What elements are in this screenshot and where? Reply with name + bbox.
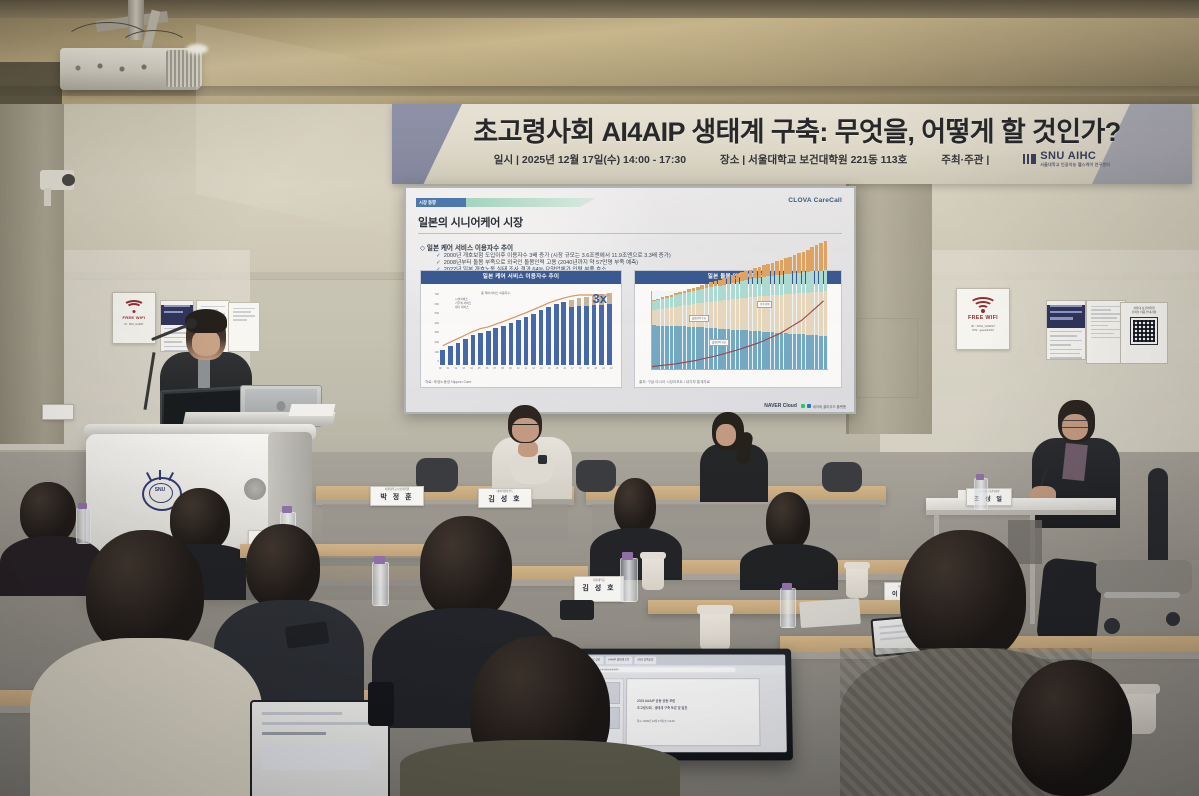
panelist-2-face bbox=[716, 424, 736, 446]
chart-stack-segment bbox=[793, 255, 797, 273]
chart-bar-cap bbox=[584, 297, 589, 306]
projection-screen: 시장 동향 CLOVA CareCall 일본의 시니어케어 시장 ◇ 일본 케… bbox=[404, 186, 856, 414]
chart-bar bbox=[493, 328, 498, 365]
bottle-cap bbox=[78, 503, 87, 509]
nameplate-2: 네이버클라우드 김 성 호 bbox=[478, 488, 532, 508]
chart-stack-segment bbox=[766, 264, 770, 277]
chart-bar bbox=[584, 306, 589, 365]
chart-callout: 부족 인력 bbox=[757, 301, 772, 308]
chart-bar bbox=[516, 320, 521, 365]
chart-bar bbox=[456, 343, 461, 365]
camera-lens-icon bbox=[62, 174, 75, 186]
slide-title-rule bbox=[418, 233, 842, 234]
chart-bar-cap bbox=[569, 300, 574, 307]
panelist-1-watch bbox=[538, 455, 547, 464]
cup-lid bbox=[697, 605, 733, 614]
glasses-icon bbox=[1060, 420, 1092, 428]
qr-code-icon bbox=[1131, 318, 1157, 344]
pillar-access-panel bbox=[856, 318, 918, 398]
ceiling-trim bbox=[0, 0, 1199, 18]
wifi-pw: PW : guest1234 bbox=[960, 328, 1006, 332]
chart-stack-segment bbox=[802, 252, 806, 273]
chart-stack-segment bbox=[705, 284, 709, 288]
chart-stack-segment bbox=[696, 287, 700, 291]
chart-bar bbox=[546, 307, 551, 365]
doc-line: 초고령사회 - 생태계 구축 토론 및 발표 bbox=[637, 706, 749, 711]
slide-surface: 시장 동향 CLOVA CareCall 일본의 시니어케어 시장 ◇ 일본 케… bbox=[406, 188, 854, 412]
chart-panel-users: 일본 케어 서비스 이용자수 추이 총 케어서비스 이용자수 700600500… bbox=[420, 270, 622, 388]
chart-bar bbox=[524, 317, 529, 365]
glasses-icon bbox=[512, 424, 538, 430]
chart-stack-segment bbox=[775, 261, 779, 275]
audience-head bbox=[20, 482, 76, 544]
chart-stack-segment bbox=[824, 241, 828, 270]
water-bottle[interactable] bbox=[974, 478, 988, 510]
speaker-tie bbox=[198, 358, 210, 388]
wifi-icon bbox=[124, 301, 144, 313]
water-bottle[interactable] bbox=[372, 562, 389, 606]
panelist-1-hand bbox=[518, 441, 538, 457]
chart-stack-segment bbox=[819, 243, 823, 270]
chart-stack-segment bbox=[709, 282, 713, 287]
cup-lid bbox=[640, 552, 666, 559]
chart-bar bbox=[478, 333, 483, 365]
chart-panel-workforce: 일본 돌봄 인력 부족 추이 돌봄인력 수요 돌봄인력 공급 부족 인력 출처:… bbox=[634, 270, 842, 388]
water-bottle[interactable] bbox=[620, 558, 638, 602]
chart-bar bbox=[486, 331, 491, 365]
chart-stack-segment bbox=[797, 253, 801, 273]
chart-stack-segment bbox=[815, 245, 819, 271]
wall-poster-right bbox=[1046, 300, 1086, 360]
conference-room-photo: 초고령사회 AI4AIP 생태계 구축: 무엇을, 어떻게 할 것인가? 일시 … bbox=[0, 0, 1199, 796]
chair-base bbox=[1104, 592, 1180, 598]
browser-tab[interactable]: 2025 정책포럼 bbox=[634, 656, 656, 664]
audience-head bbox=[900, 530, 1026, 664]
qr-line2: 강의실 이용 안내사항 bbox=[1124, 310, 1164, 314]
chart-stack-segment bbox=[740, 272, 744, 280]
bottle-cap bbox=[374, 556, 385, 564]
naver-cloud-logo: NAVER Cloud 네이버 클라우드 플랫폼 bbox=[764, 403, 846, 409]
chart-bar bbox=[554, 304, 559, 365]
chart-stack-segment bbox=[806, 250, 810, 272]
chair-wheel bbox=[1166, 612, 1180, 626]
chart-bar bbox=[448, 346, 453, 365]
banner-datetime: 일시 | 2025년 12월 17일(수) 14:00 - 17:30 bbox=[494, 152, 686, 167]
coffee-cup[interactable] bbox=[700, 610, 730, 650]
chart-stack-segment bbox=[824, 270, 828, 291]
wifi-icon bbox=[970, 297, 996, 313]
wifi-id: ID : SNU_GUEST bbox=[116, 323, 152, 326]
wifi-title: FREE WIFI bbox=[960, 315, 1006, 321]
chart-bar bbox=[509, 323, 514, 365]
chart-bar-cap bbox=[577, 298, 582, 306]
chart-callout: 돌봄인력 공급 bbox=[709, 339, 729, 346]
audience-shoulders bbox=[30, 638, 262, 796]
projector-cable bbox=[118, 30, 190, 66]
chart-bar bbox=[592, 305, 597, 365]
audience-head bbox=[420, 516, 512, 620]
event-banner: 초고령사회 AI4AIP 생태계 구축: 무엇을, 어떻게 할 것인가? 일시 … bbox=[392, 104, 1192, 184]
chart-stack-segment bbox=[714, 281, 718, 286]
laptop-logo-icon bbox=[277, 401, 286, 411]
podium-papers bbox=[289, 404, 336, 416]
bottle-cap bbox=[282, 506, 292, 513]
chart-stack-segment bbox=[802, 272, 806, 293]
logo-subtext: 서울대학교 인공지능 헬스케어 연구센터 bbox=[1040, 162, 1110, 168]
chart-source-users: 자료: 후생노동성 Nippon Care bbox=[425, 380, 471, 385]
chart-stack-segment bbox=[744, 271, 748, 280]
naver-cloud-subtext: 네이버 클라우드 플랫폼 bbox=[813, 404, 846, 409]
slide-tag-chevron bbox=[466, 198, 596, 207]
speaker-face bbox=[192, 330, 220, 356]
slide-title: 일본의 시니어케어 시장 bbox=[418, 214, 523, 230]
chart-bar bbox=[501, 326, 506, 365]
podium-port bbox=[244, 478, 266, 500]
slide-brand: CLOVA CareCall bbox=[788, 197, 842, 204]
chart-bar bbox=[539, 310, 544, 365]
water-bottle[interactable] bbox=[780, 588, 796, 628]
audience-head bbox=[246, 524, 320, 610]
banner-subline: 일시 | 2025년 12월 17일(수) 14:00 - 17:30 장소 |… bbox=[432, 150, 1172, 168]
logo-mark-icon bbox=[1023, 154, 1036, 164]
chair-wheel bbox=[1104, 618, 1120, 634]
chart-legend-users: 시설서비스거주계 서비스재가 서비스 bbox=[455, 297, 471, 310]
right-table-edge bbox=[926, 510, 1116, 515]
audience-head bbox=[766, 492, 810, 550]
chart-yaxis-users: 7006005004003002001000 bbox=[429, 293, 439, 371]
smartphone[interactable] bbox=[368, 682, 394, 726]
nameplate-3: 서울대학교 김 성 호 bbox=[574, 576, 624, 602]
naver-dot2-icon bbox=[807, 404, 811, 408]
microphone-icon bbox=[186, 318, 197, 329]
audience-laptop-screen: 회의자료 공유 AI4AIP 생태계 토론 2025 정책포럼 docs.goo… bbox=[579, 655, 787, 753]
camera-mount bbox=[44, 188, 51, 206]
chart-stack-segment bbox=[762, 265, 766, 277]
chart-stack-segment bbox=[806, 272, 810, 293]
water-bottle[interactable] bbox=[76, 508, 91, 544]
paper-stack bbox=[799, 598, 861, 628]
chart-stack-segment bbox=[788, 257, 792, 274]
browser-tab[interactable]: AI4AIP 생태계 토론 bbox=[605, 656, 632, 664]
pillar-left bbox=[0, 104, 64, 444]
chart-stack-segment bbox=[780, 260, 784, 275]
nameplate-5: 서울대학교 보건대학원 조 성 일 bbox=[966, 488, 1012, 506]
chair-back bbox=[822, 462, 862, 492]
chart-bar-cap bbox=[607, 293, 612, 304]
doc-line: 일시: 2025년 12월 17일(수) 14:00 bbox=[637, 719, 749, 724]
chart-stack-segment bbox=[810, 271, 814, 292]
banner-host: 주최·주관 | bbox=[941, 152, 989, 167]
wifi-sign-left: FREE WIFI ID : SNU_GUEST bbox=[112, 292, 156, 344]
chart-stack-segment bbox=[700, 285, 704, 289]
chart-bar bbox=[440, 350, 445, 365]
naver-cloud-chip: 네이버 클라우드 플랫폼 bbox=[801, 404, 846, 409]
audience-shoulders bbox=[400, 740, 680, 796]
chart-stack-segment bbox=[784, 258, 788, 274]
chart-bar bbox=[531, 314, 536, 365]
chart-annotation-3x: 3x bbox=[593, 291, 607, 306]
office-chair-seat bbox=[1096, 560, 1192, 594]
document-page[interactable]: 2025 AI4AIP 공동·공동 포럼 초고령사회 - 생태계 구축 토론 및… bbox=[626, 678, 761, 746]
smartphone[interactable] bbox=[560, 600, 594, 620]
logo-text: SNU AIHC bbox=[1040, 150, 1096, 162]
bottle-cap bbox=[976, 474, 984, 480]
chart-title-users: 일본 케어 서비스 이용자수 추이 bbox=[421, 271, 621, 284]
chart-stack-segment bbox=[718, 280, 722, 286]
chart-xaxis-users: 0001020304050607080910111213141516171819… bbox=[439, 367, 613, 375]
wall-plate-left bbox=[42, 404, 74, 420]
chart-stack-segment bbox=[722, 278, 726, 284]
nameplate-3-name: 김 성 호 bbox=[575, 583, 623, 593]
chart-stack-segment bbox=[810, 247, 814, 271]
chart-bar bbox=[577, 306, 582, 365]
chart-stack-segment bbox=[727, 277, 731, 284]
cup-lid bbox=[844, 562, 870, 569]
wall-notice-left-2 bbox=[228, 302, 260, 352]
snu-aihc-logo: SNU AIHC 서울대학교 인공지능 헬스케어 연구센터 bbox=[1023, 150, 1110, 168]
audience-head bbox=[1012, 660, 1132, 796]
chart-stack-segment bbox=[753, 268, 757, 278]
audience-head bbox=[614, 478, 656, 534]
chart-callout: 돌봄인력 수요 bbox=[689, 315, 709, 322]
doc-line: 2025 AI4AIP 공동·공동 포럼 bbox=[637, 699, 749, 704]
chart-line-workforce bbox=[651, 291, 827, 369]
chart-stack-segment bbox=[731, 275, 735, 282]
right-panelist-shirt bbox=[1062, 443, 1088, 481]
naver-cloud-text: NAVER Cloud bbox=[764, 403, 797, 409]
bottle-cap bbox=[622, 552, 633, 560]
poster-header bbox=[1047, 305, 1085, 328]
chart-stack-segment bbox=[815, 271, 819, 292]
chart-bar bbox=[463, 339, 468, 365]
chair-back bbox=[576, 460, 616, 492]
qr-sign-right: 서울대 보건대학원 강의실 이용 안내사항 bbox=[1120, 302, 1168, 364]
chart-stack-segment bbox=[758, 267, 762, 278]
wifi-title: FREE WIFI bbox=[116, 315, 152, 320]
nameplate-2-name: 김 성 호 bbox=[479, 494, 531, 504]
chart-bar bbox=[561, 302, 566, 365]
nameplate-1-name: 박 정 훈 bbox=[371, 492, 423, 502]
chart-stack-segment bbox=[771, 263, 775, 276]
nameplate-1: 서울대학교 보건대학원 박 정 훈 bbox=[370, 486, 424, 506]
chart-bar bbox=[471, 335, 476, 365]
chart-bar bbox=[569, 307, 574, 365]
chart-source-workforce: 출처: 구글·아시아 시장리포트 / 내각부 통계자료 bbox=[639, 380, 710, 385]
browser-address-bar[interactable]: docs.google.com/document/d/… bbox=[584, 667, 736, 672]
naver-dot-icon bbox=[801, 404, 805, 408]
banner-place: 장소 | 서울대학교 보건대학원 221동 113호 bbox=[720, 152, 907, 167]
wifi-sign-right: FREE WIFI ID : SNU_GUEST PW : guest1234 bbox=[956, 288, 1010, 350]
coffee-cup[interactable] bbox=[846, 566, 868, 598]
chart-bar bbox=[607, 304, 612, 365]
bottle-cap bbox=[782, 583, 792, 590]
panelist-1-face bbox=[512, 418, 539, 442]
coffee-cup[interactable] bbox=[642, 556, 664, 590]
snu-emblem-text: SNU bbox=[142, 487, 178, 493]
chart-bar bbox=[599, 305, 604, 365]
banner-title: 초고령사회 AI4AIP 생태계 구축: 무엇을, 어떻게 할 것인가? bbox=[432, 110, 1162, 149]
slide-section-tag-label: 시장 동향 bbox=[419, 198, 436, 207]
chart-stack-segment bbox=[819, 271, 823, 292]
chart-stack-segment bbox=[749, 270, 753, 280]
chart-stack-segment bbox=[736, 274, 740, 282]
panelist-2-torso bbox=[700, 444, 768, 502]
